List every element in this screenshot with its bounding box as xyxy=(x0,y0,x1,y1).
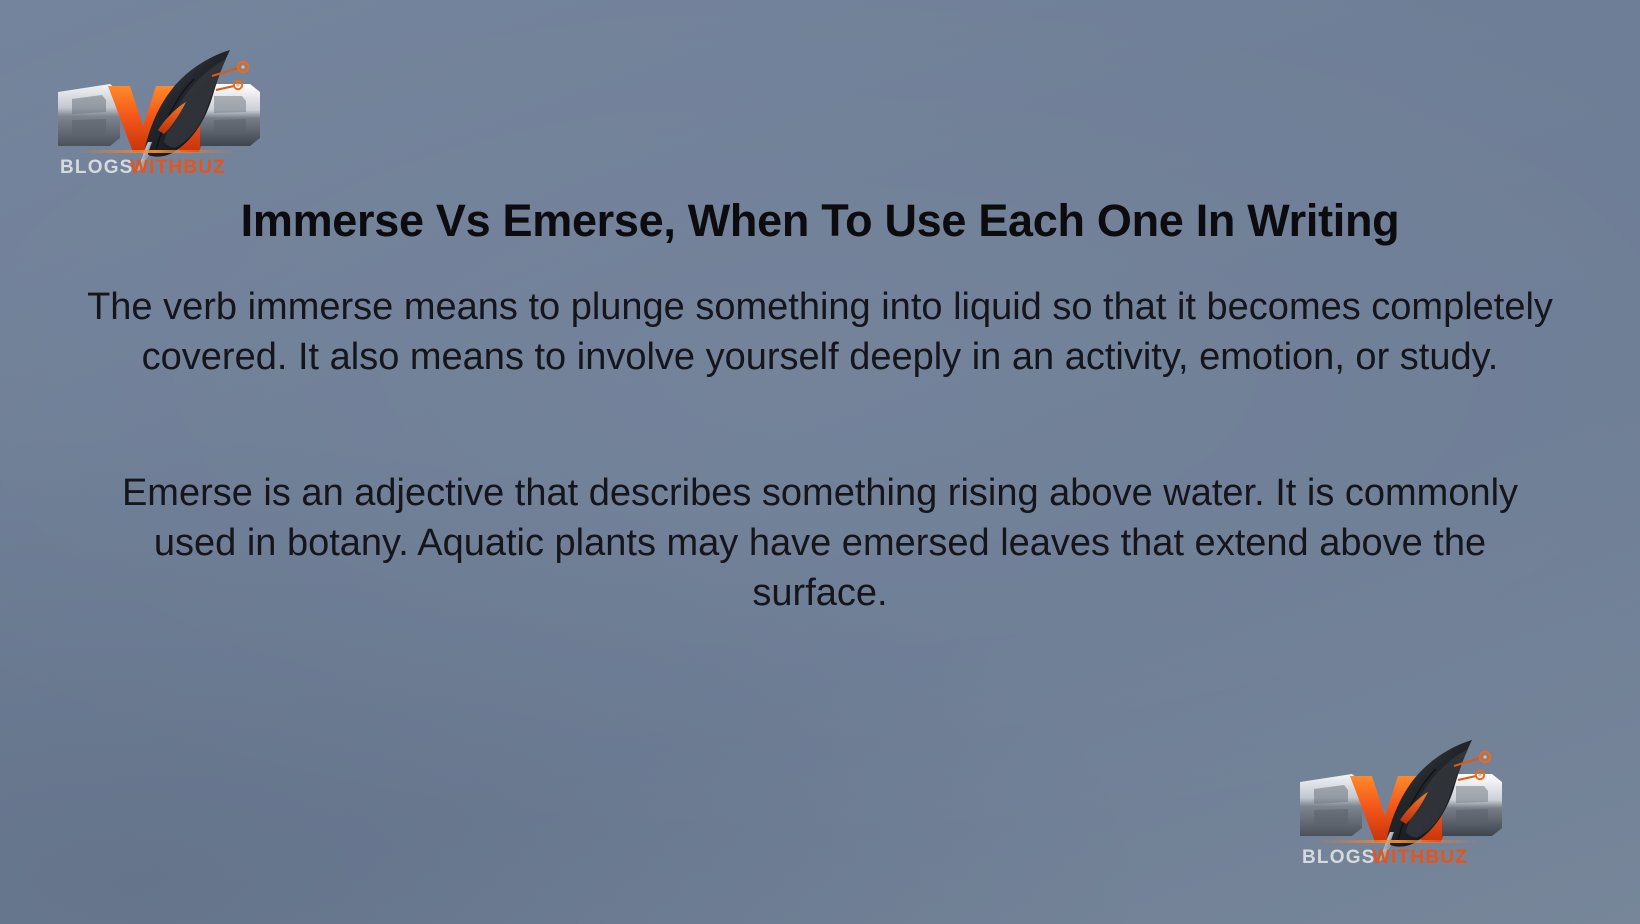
logo-tagline-blogs: BLOGS xyxy=(1302,847,1376,868)
logo-letter-b-left xyxy=(58,84,120,146)
logo-top-left: BLOGS WITHBUZ xyxy=(44,34,266,180)
paragraph-line: Emerse is an adjective that describes so… xyxy=(55,468,1585,518)
bwb-logo-icon: BLOGS WITHBUZ xyxy=(44,34,266,180)
paragraph-line: The verb immerse means to plunge somethi… xyxy=(55,282,1585,332)
logo-tagline-withbuz: WITHBUZ xyxy=(1372,847,1468,868)
page-title: Immerse Vs Emerse, When To Use Each One … xyxy=(70,196,1570,246)
slide-canvas: BLOGS WITHBUZ xyxy=(0,0,1640,924)
logo-tagline: BLOGS WITHBUZ xyxy=(60,157,226,178)
paragraph-emerse-definition: Emerse is an adjective that describes so… xyxy=(55,468,1585,618)
logo-letter-b-left xyxy=(1300,774,1362,836)
logo-tagline-withbuz: WITHBUZ xyxy=(130,157,226,178)
paragraph-line: surface. xyxy=(55,568,1585,618)
logo-bottom-right: BLOGS WITHBUZ xyxy=(1286,724,1508,870)
paragraph-line: used in botany. Aquatic plants may have … xyxy=(55,518,1585,568)
logo-glow-bar xyxy=(74,150,236,153)
logo-glow-bar xyxy=(1316,840,1478,843)
logo-tagline-blogs: BLOGS xyxy=(60,157,134,178)
paragraph-immerse-definition: The verb immerse means to plunge somethi… xyxy=(55,282,1585,382)
paragraph-line: covered. It also means to involve yourse… xyxy=(55,332,1585,382)
bwb-logo-icon: BLOGS WITHBUZ xyxy=(1286,724,1508,870)
logo-tagline: BLOGS WITHBUZ xyxy=(1302,847,1468,868)
